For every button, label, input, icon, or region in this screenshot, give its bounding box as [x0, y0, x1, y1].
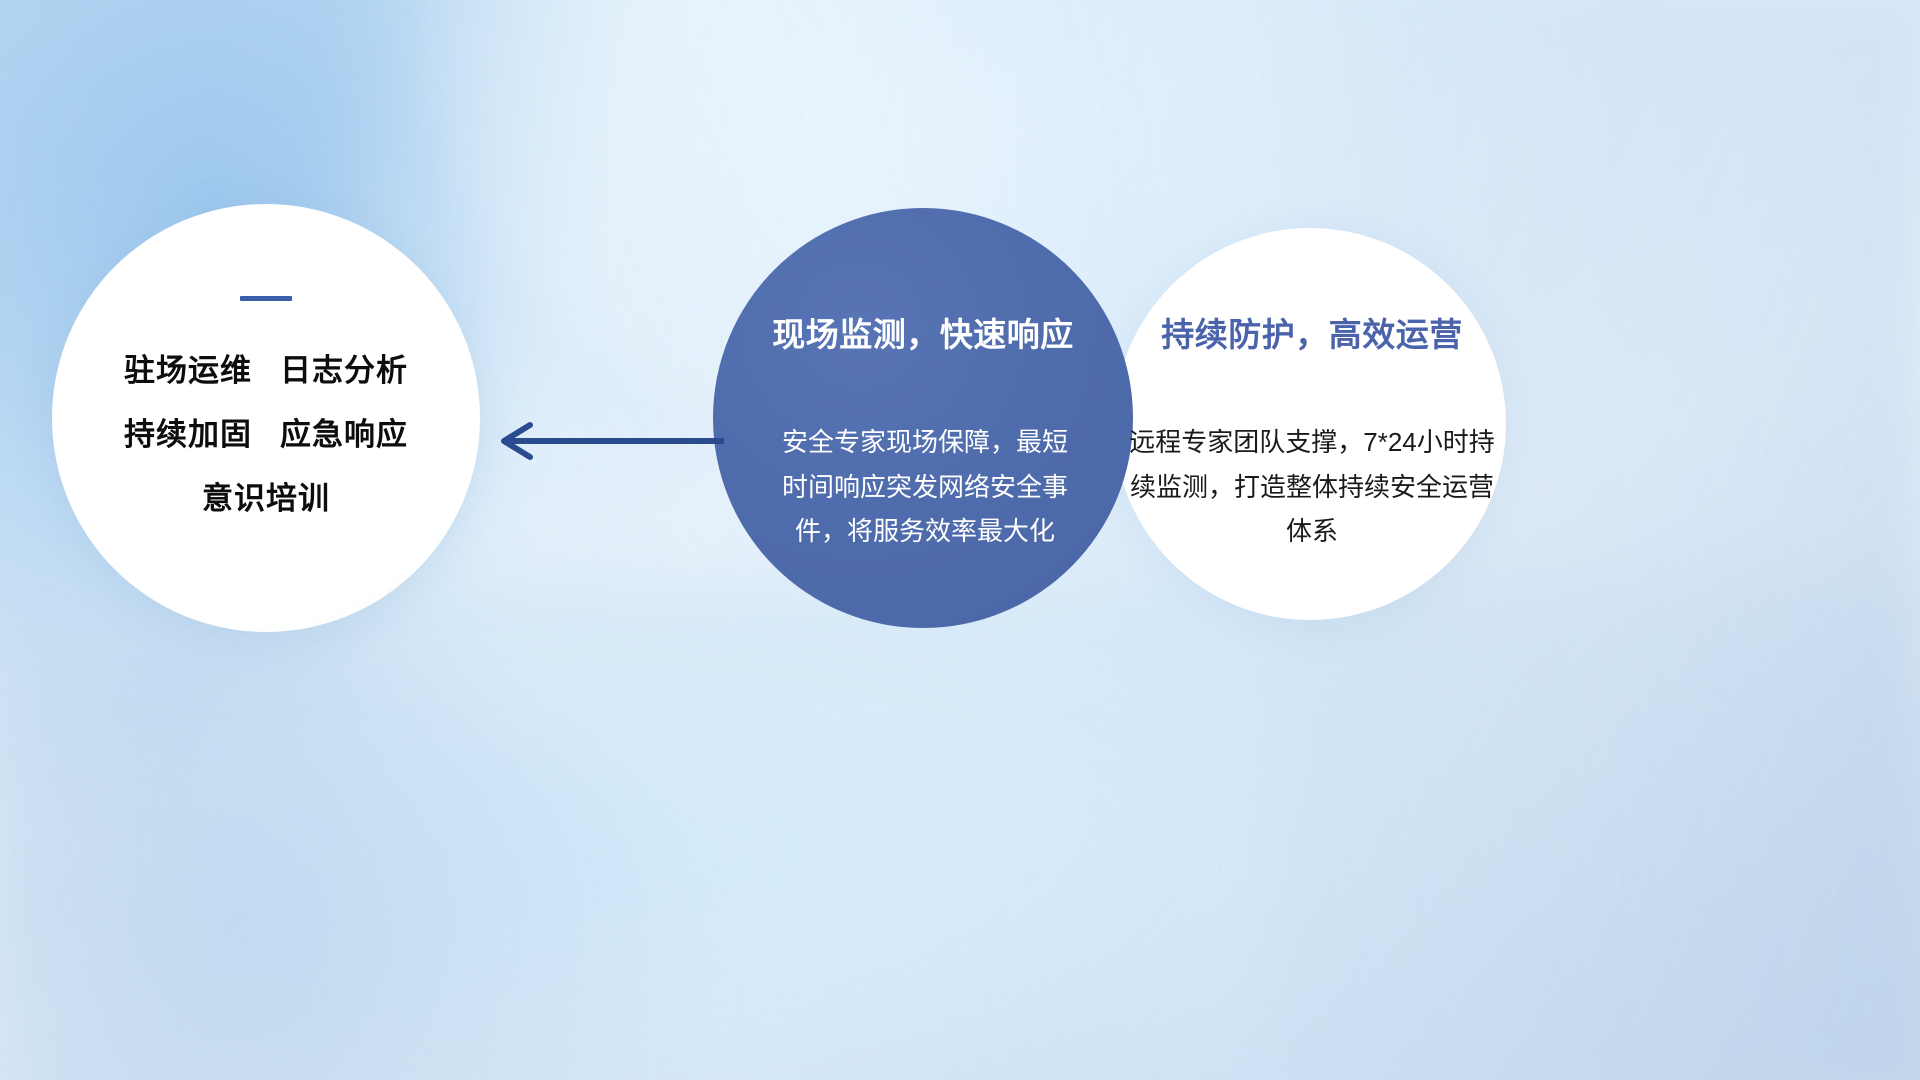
right-circle-shape[interactable] — [1114, 228, 1506, 620]
middle-circle-shape[interactable] — [713, 208, 1133, 628]
left-pointing-arrow — [488, 418, 728, 464]
left-circle-shape[interactable] — [52, 204, 480, 632]
diagram-canvas: 驻场运维日志分析 持续加固应急响应 意识培训 现场监测，快速响应 安全专家现场保… — [0, 0, 1920, 1080]
